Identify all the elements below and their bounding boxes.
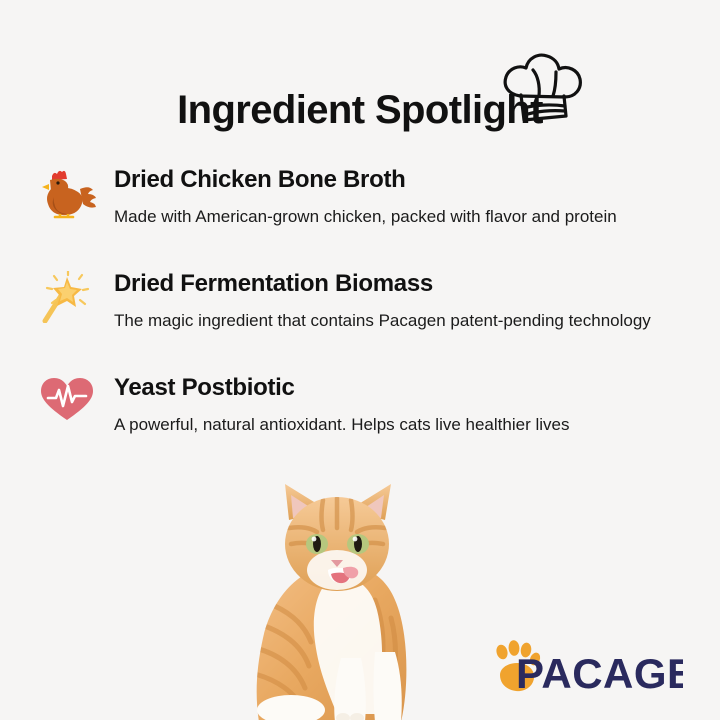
pacagen-logo: PACAGEN — [488, 640, 683, 698]
page-title-row: Ingredient Spotlight — [0, 88, 720, 144]
magic-wand-emoji — [38, 271, 96, 323]
ingredient-list: Dried Chicken Bone Broth Made with Ameri… — [0, 165, 720, 477]
chicken-emoji — [38, 167, 96, 219]
ingredient-spotlight-card: Ingredient Spotlight — [0, 0, 720, 720]
ingredient-item: Dried Chicken Bone Broth Made with Ameri… — [0, 165, 720, 269]
ingredient-title: Yeast Postbiotic — [114, 373, 694, 403]
ingredient-item: Dried Fermentation Biomass The magic ing… — [0, 269, 720, 373]
ingredient-description: Made with American-grown chicken, packed… — [114, 202, 694, 232]
page-title: Ingredient Spotlight — [177, 88, 543, 132]
ingredient-description: A powerful, natural antioxidant. Helps c… — [114, 410, 694, 440]
ingredient-title: Dried Chicken Bone Broth — [114, 165, 694, 195]
ingredient-description: The magic ingredient that contains Pacag… — [114, 306, 694, 336]
ingredient-title: Dried Fermentation Biomass — [114, 269, 694, 299]
cat-photo — [225, 482, 475, 720]
logo-wordmark: PACAGEN — [516, 650, 683, 697]
ingredient-item: Yeast Postbiotic A powerful, natural ant… — [0, 373, 720, 477]
beating-heart-emoji — [38, 375, 96, 427]
